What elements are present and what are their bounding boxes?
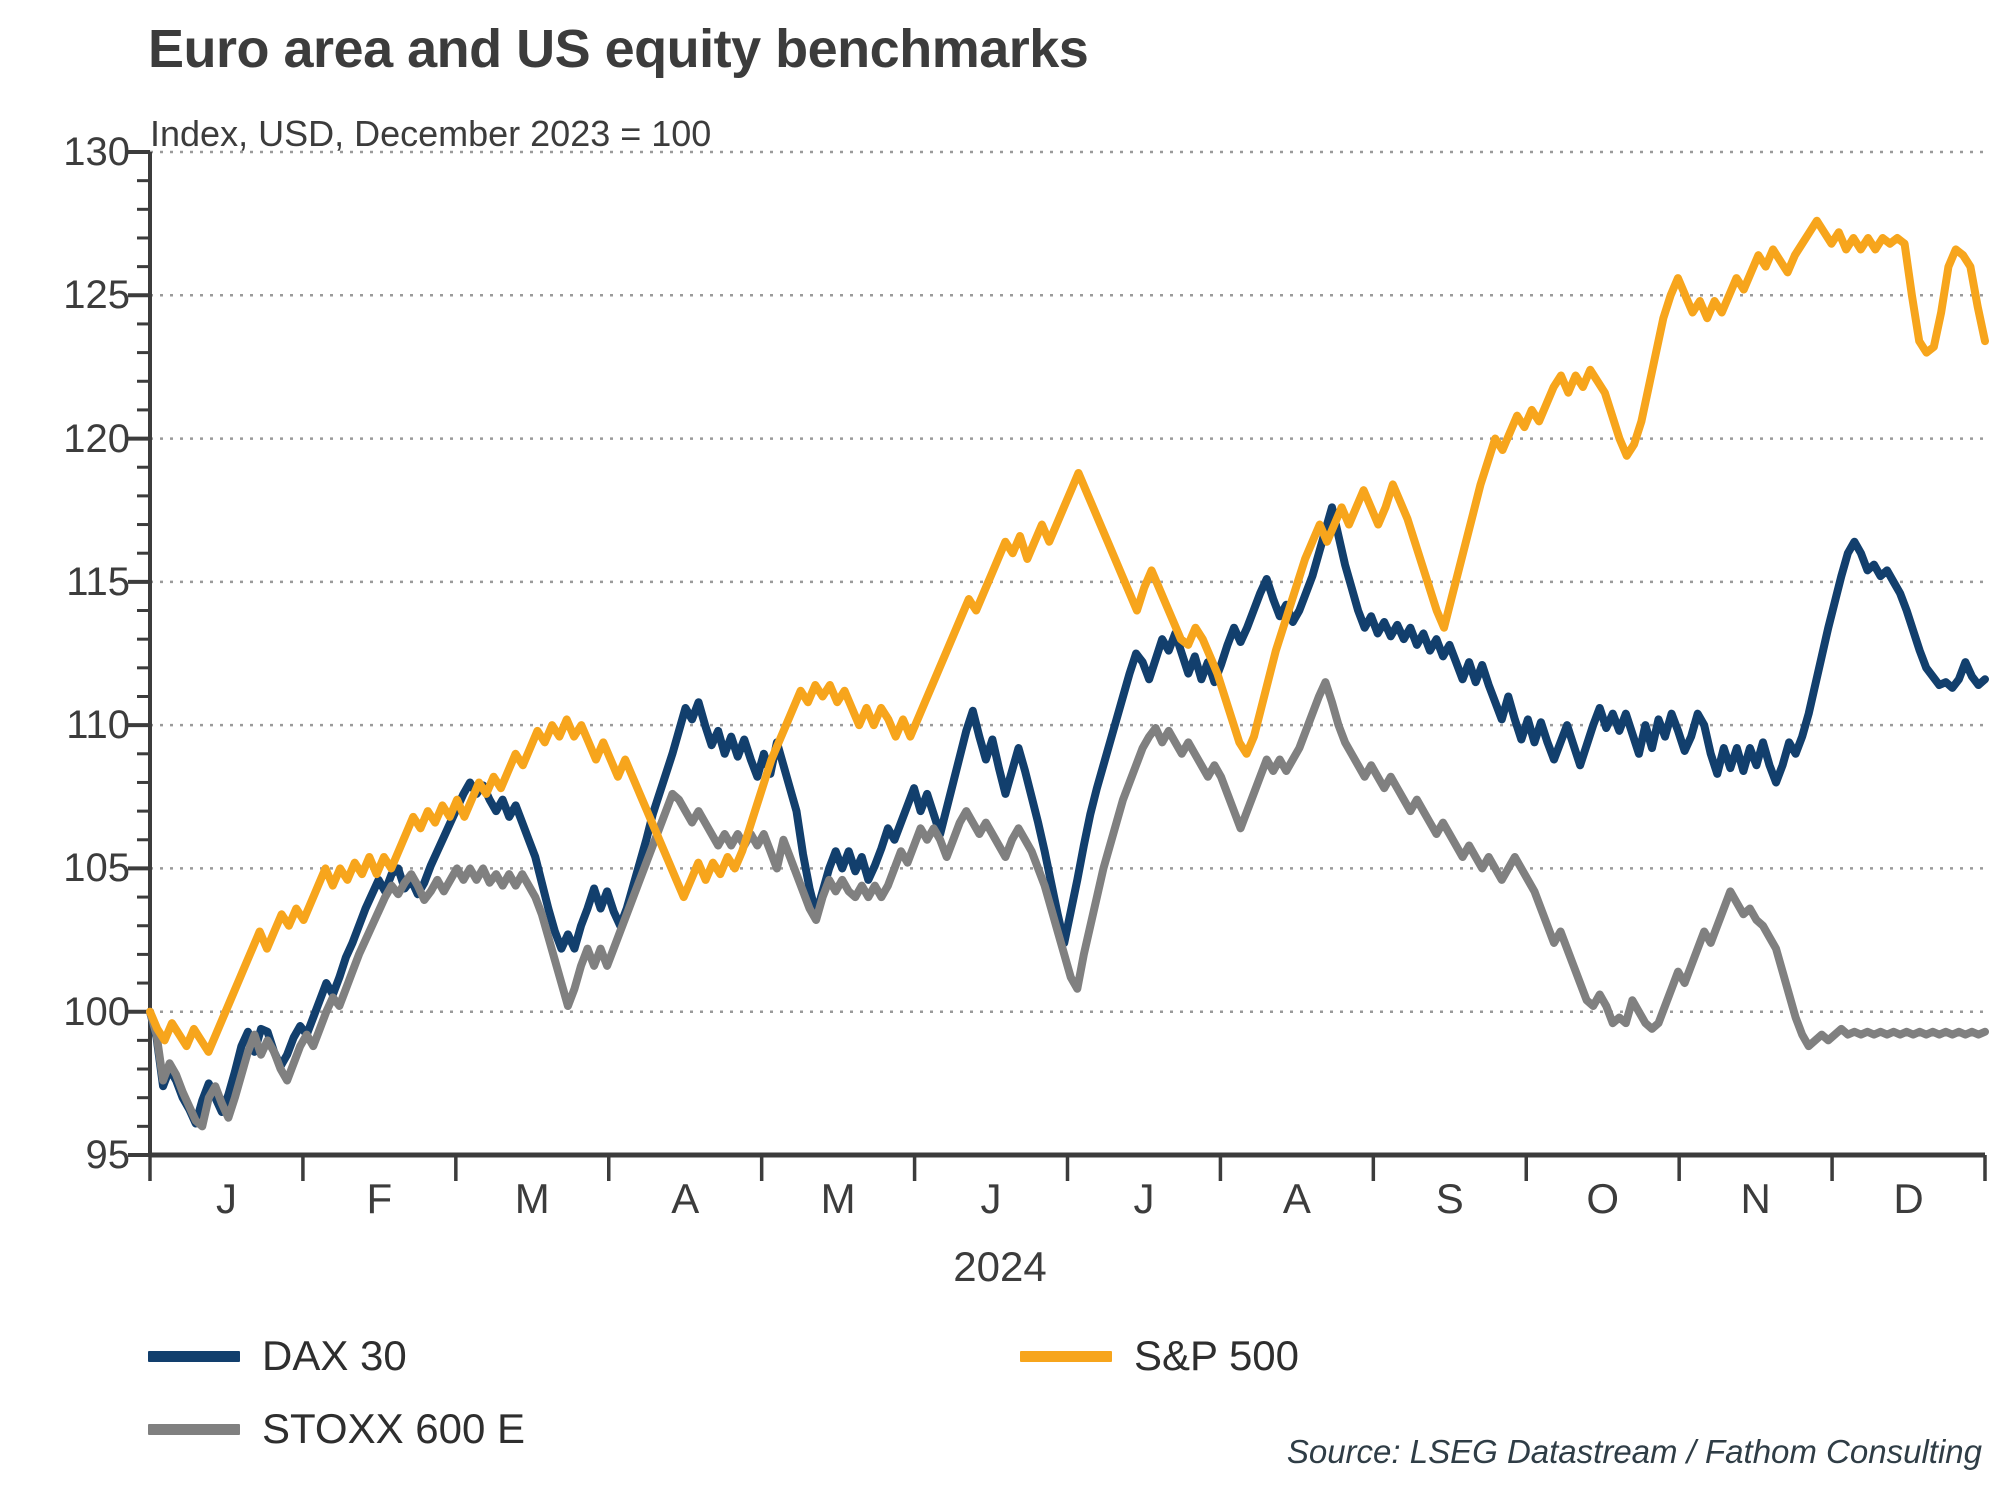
x-axis-tick-label-n-10: N [1740, 1175, 1770, 1223]
chart-figure: Euro area and US equity benchmarks Index… [0, 0, 2000, 1500]
legend-swatch-icon [148, 1424, 240, 1435]
x-axis-tick-label-a-3: A [671, 1175, 699, 1223]
y-axis-tick-label: 110 [66, 705, 130, 745]
y-axis-tick-label: 100 [63, 992, 130, 1032]
y-axis-tick-label: 130 [63, 132, 130, 172]
legend-swatch-icon [148, 1351, 240, 1362]
x-axis-title: 2024 [0, 1243, 2000, 1291]
legend-label: S&P 500 [1134, 1332, 1299, 1380]
legend-item-2[interactable]: S&P 500 [1020, 1332, 1299, 1380]
legend-swatch-icon [1020, 1351, 1112, 1362]
x-axis-tick-label-d-11: D [1893, 1175, 1923, 1223]
x-axis-tick-label-s-8: S [1436, 1175, 1464, 1223]
x-axis-tick-label-j-6: J [1133, 1175, 1154, 1223]
x-axis-tick-label-m-2: M [515, 1175, 550, 1223]
y-axis-tick-label: 105 [63, 848, 130, 888]
x-axis-tick-label-j-5: J [981, 1175, 1002, 1223]
x-axis-tick-label-a-7: A [1283, 1175, 1311, 1223]
y-axis-tick-label: 120 [63, 419, 130, 459]
legend-item-0[interactable]: DAX 30 [148, 1332, 407, 1380]
x-axis-tick-label-f-1: F [367, 1175, 393, 1223]
source-note: Source: LSEG Datastream / Fathom Consult… [1287, 1433, 1982, 1471]
legend-item-1[interactable]: STOXX 600 E [148, 1405, 525, 1453]
y-axis-tick-label: 125 [63, 275, 130, 315]
y-axis-tick-label: 115 [66, 562, 130, 602]
x-axis-tick-label-m-4: M [821, 1175, 856, 1223]
x-axis-tick-label-j-0: J [216, 1175, 237, 1223]
x-axis-tick-label-o-9: O [1586, 1175, 1619, 1223]
legend-label: STOXX 600 E [262, 1405, 525, 1453]
y-axis-tick-label: 95 [86, 1135, 131, 1175]
legend-label: DAX 30 [262, 1332, 407, 1380]
